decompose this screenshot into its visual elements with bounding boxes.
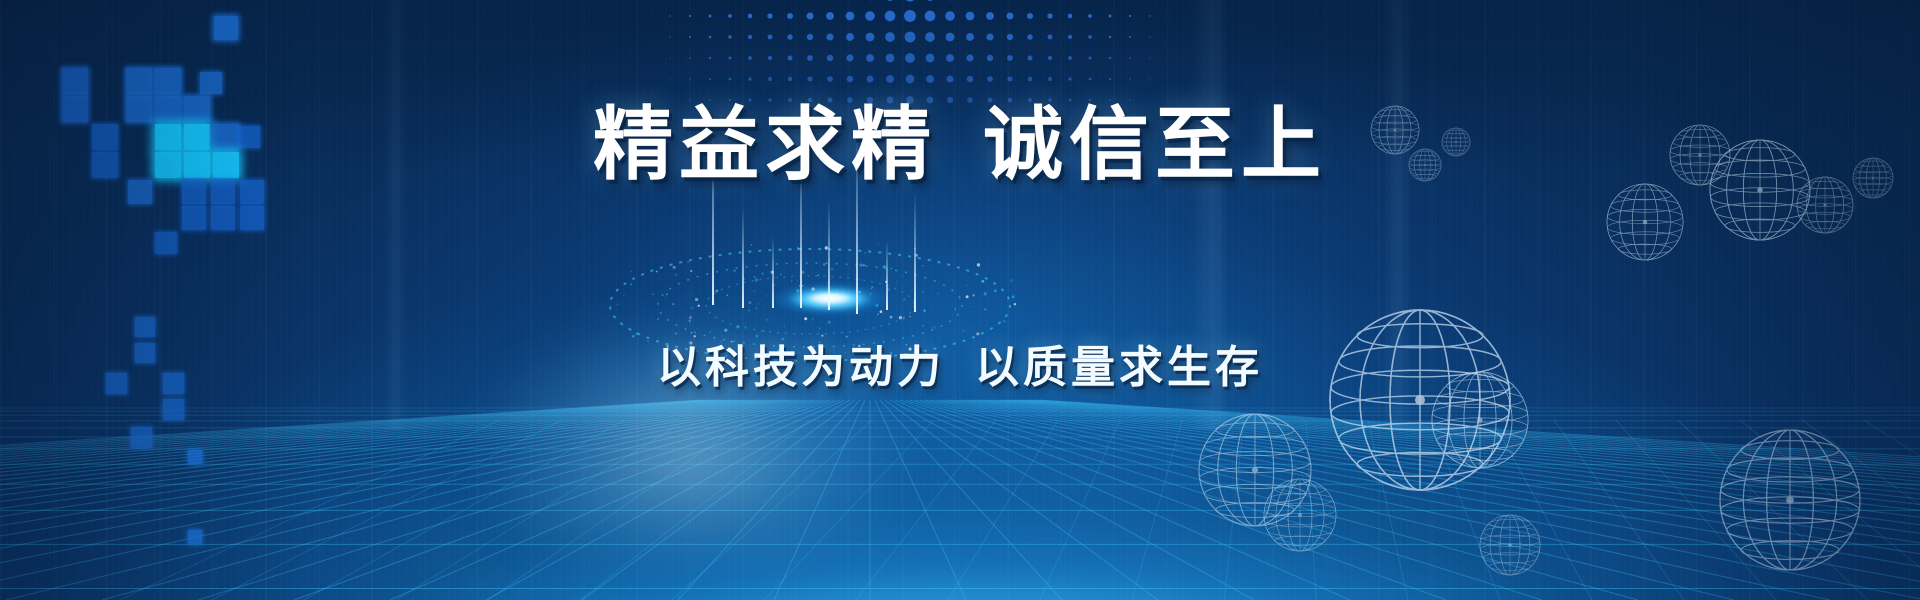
halftone-dot bbox=[967, 76, 973, 82]
halftone-dot bbox=[1027, 34, 1033, 40]
halftone-dot bbox=[728, 35, 731, 38]
particle-dot bbox=[675, 332, 677, 334]
mosaic-square bbox=[135, 317, 155, 337]
grid-lines bbox=[0, 400, 1920, 600]
particle-dot bbox=[657, 318, 659, 320]
halftone-dot bbox=[728, 14, 732, 18]
halftone-dot bbox=[748, 77, 751, 80]
particle-dot bbox=[755, 278, 758, 281]
halftone-dot bbox=[807, 13, 814, 20]
particle-dot bbox=[754, 290, 756, 292]
subheadline-container: 以科技为动力以质量求生存 bbox=[0, 346, 1920, 390]
particle-dot bbox=[724, 329, 727, 332]
halftone-dot bbox=[885, 32, 895, 42]
halftone-dot bbox=[669, 57, 670, 58]
particle-dot bbox=[903, 318, 905, 320]
halftone-dot bbox=[807, 76, 812, 81]
halftone-dot bbox=[787, 55, 792, 60]
particle-dot bbox=[666, 294, 667, 295]
halftone-dot bbox=[1088, 35, 1091, 38]
particle-dot bbox=[647, 340, 649, 342]
halftone-dot bbox=[689, 78, 691, 80]
particle-dot bbox=[673, 266, 676, 269]
halftone-dot bbox=[945, 11, 955, 21]
particle-dot bbox=[877, 244, 878, 245]
halftone-dot bbox=[787, 13, 793, 19]
halftone-dot bbox=[1068, 56, 1072, 60]
mosaic-square bbox=[155, 232, 177, 254]
particle-dot bbox=[994, 289, 997, 292]
halftone-dot bbox=[709, 15, 712, 18]
particle-dot bbox=[966, 285, 967, 286]
halftone-dot bbox=[1068, 35, 1072, 39]
halftone-dot bbox=[669, 15, 670, 16]
halftone-dot bbox=[886, 54, 895, 63]
particle-dot bbox=[744, 326, 746, 328]
halftone-dot bbox=[1088, 56, 1091, 59]
halftone-dot bbox=[946, 75, 953, 82]
particle-dot bbox=[984, 292, 987, 295]
particle-dot bbox=[972, 294, 974, 296]
halftone-dot bbox=[1048, 56, 1052, 60]
particle-dot bbox=[631, 271, 632, 272]
particle-dot bbox=[940, 337, 941, 338]
halftone-dot bbox=[807, 34, 813, 40]
halftone-dot bbox=[807, 55, 813, 61]
halftone-dot bbox=[904, 10, 916, 22]
halftone-dot bbox=[1068, 77, 1071, 80]
particle-dot bbox=[782, 338, 785, 341]
halftone-dot bbox=[1047, 13, 1052, 18]
particle-dot bbox=[672, 303, 674, 305]
halftone-dot bbox=[709, 78, 711, 80]
particle-dot bbox=[617, 304, 618, 305]
mosaic-square bbox=[163, 399, 184, 420]
particle-dot bbox=[766, 318, 769, 321]
particle-dot bbox=[665, 297, 666, 298]
halftone-dot bbox=[1007, 55, 1013, 61]
mosaic-square bbox=[182, 206, 206, 230]
particle-dot bbox=[697, 328, 699, 330]
halftone-dot bbox=[866, 33, 875, 42]
particle-dot bbox=[840, 262, 841, 263]
particle-dot bbox=[753, 276, 755, 278]
halftone-dot bbox=[926, 54, 935, 63]
halftone-dot bbox=[1007, 76, 1012, 81]
halftone-dot bbox=[689, 36, 691, 38]
particle-dot bbox=[819, 328, 821, 330]
halftone-dot bbox=[787, 34, 793, 40]
halftone-dot bbox=[768, 35, 773, 40]
particle-dot bbox=[797, 280, 798, 281]
mosaic-square bbox=[188, 530, 202, 544]
mosaic-square bbox=[211, 206, 235, 230]
particle-dot bbox=[890, 316, 893, 319]
particle-dot bbox=[710, 331, 712, 333]
mosaic-square bbox=[62, 68, 88, 94]
headline-part-1: 精益求精 bbox=[593, 97, 937, 191]
particle-dot bbox=[632, 335, 635, 338]
halftone-dot bbox=[866, 75, 873, 82]
particle-dot bbox=[962, 329, 964, 331]
particle-dot bbox=[698, 305, 700, 307]
halftone-dot bbox=[1048, 77, 1052, 81]
halftone-dot bbox=[1088, 14, 1092, 18]
halftone-dot bbox=[1149, 36, 1150, 37]
mosaic-square bbox=[131, 427, 152, 448]
vertical-streak-texture-wide bbox=[0, 0, 1920, 600]
wireframe-globe bbox=[1199, 414, 1311, 526]
subheadline-part-1: 以科技为动力 bbox=[657, 342, 945, 393]
particle-dot bbox=[911, 329, 912, 330]
particle-dot bbox=[923, 310, 926, 313]
halftone-dot bbox=[966, 54, 973, 61]
core-light-center bbox=[806, 292, 854, 304]
halftone-dot bbox=[947, 97, 953, 103]
headline-part-2: 诚信至上 bbox=[983, 97, 1327, 191]
hero-banner: 精益求精诚信至上 以科技为动力以质量求生存 bbox=[0, 0, 1920, 600]
halftone-dot bbox=[925, 11, 936, 22]
particle-dot bbox=[748, 301, 751, 304]
halftone-dot bbox=[669, 36, 670, 37]
halftone-dot bbox=[905, 32, 916, 43]
particle-dot bbox=[966, 295, 969, 298]
particle-dot bbox=[689, 316, 692, 319]
halftone-dot bbox=[1129, 78, 1131, 80]
particle-dot bbox=[984, 308, 986, 310]
wireframe-globes-decoration bbox=[0, 0, 1920, 600]
side-vignette bbox=[0, 0, 1920, 600]
mosaic-square bbox=[200, 72, 222, 94]
particle-dot bbox=[940, 298, 941, 299]
particle-dot bbox=[812, 318, 814, 320]
particle-dot bbox=[846, 336, 848, 338]
particle-dot bbox=[755, 307, 757, 309]
particle-dot bbox=[757, 303, 759, 305]
halftone-dot bbox=[946, 54, 954, 62]
particle-dot bbox=[624, 295, 625, 296]
vertical-streak-texture bbox=[0, 0, 1920, 600]
subheadline-part-2: 以质量求生存 bbox=[975, 342, 1263, 393]
halftone-dot bbox=[866, 54, 874, 62]
particle-dot bbox=[734, 270, 736, 272]
headline-container: 精益求精诚信至上 bbox=[0, 104, 1920, 184]
particle-dot bbox=[974, 340, 975, 341]
particle-dot bbox=[689, 320, 691, 322]
particle-dot bbox=[762, 299, 763, 300]
particle-dot bbox=[694, 335, 696, 337]
mosaic-square bbox=[126, 68, 152, 94]
wireframe-globe bbox=[1720, 430, 1860, 570]
particle-dot bbox=[689, 321, 691, 323]
particle-dot bbox=[909, 316, 910, 317]
halftone-dot bbox=[1027, 55, 1032, 60]
particle-dot bbox=[763, 330, 764, 331]
halftone-dot bbox=[1129, 15, 1131, 17]
halftone-dot bbox=[987, 76, 993, 82]
halftone-dot bbox=[788, 77, 793, 82]
halftone-dot bbox=[1007, 13, 1014, 20]
halftone-dot bbox=[748, 14, 753, 19]
particle-dot bbox=[903, 298, 906, 301]
particle-dot bbox=[955, 309, 956, 310]
halftone-dot bbox=[1007, 34, 1013, 40]
halftone-dot bbox=[1109, 57, 1111, 59]
particle-dot bbox=[899, 316, 902, 319]
halftone-dot bbox=[689, 15, 691, 17]
headline: 精益求精诚信至上 bbox=[593, 104, 1327, 184]
perspective-grid bbox=[0, 360, 1920, 600]
particle-dot bbox=[656, 271, 658, 273]
particle-dot bbox=[897, 281, 898, 282]
halftone-dot bbox=[924, 0, 936, 1]
halftone-dot bbox=[650, 16, 651, 17]
halftone-dot bbox=[729, 78, 732, 81]
particle-dot bbox=[1010, 279, 1013, 282]
particle-dot bbox=[675, 273, 678, 276]
particle-dot bbox=[831, 268, 834, 271]
particle-dot bbox=[695, 298, 698, 301]
particle-dot bbox=[922, 324, 925, 327]
particle-dot bbox=[1003, 320, 1005, 322]
halftone-dot bbox=[669, 78, 670, 79]
halftone-dot bbox=[886, 75, 894, 83]
particle-dot bbox=[691, 332, 692, 333]
halftone-dot bbox=[826, 12, 834, 20]
halftone-dot bbox=[709, 57, 711, 59]
particle-dot bbox=[933, 326, 936, 329]
particle-dot bbox=[642, 311, 643, 312]
particle-dot bbox=[727, 294, 728, 295]
particle-dot bbox=[784, 326, 785, 327]
halftone-dot bbox=[826, 33, 833, 40]
particle-dot bbox=[818, 327, 819, 328]
halftone-dot bbox=[748, 56, 752, 60]
particle-dot bbox=[863, 264, 865, 266]
halftone-dot bbox=[906, 75, 915, 84]
halftone-dot bbox=[1129, 36, 1131, 38]
wireframe-globe bbox=[1480, 515, 1540, 575]
light-beam bbox=[914, 192, 916, 312]
particle-dot bbox=[810, 322, 811, 323]
particle-dot bbox=[821, 335, 823, 337]
wireframe-globe bbox=[1797, 177, 1853, 233]
halftone-dot bbox=[1149, 57, 1150, 58]
particle-dot bbox=[730, 332, 731, 333]
halftone-dot bbox=[728, 56, 731, 59]
halftone-dot bbox=[946, 33, 955, 42]
particle-dot bbox=[823, 263, 826, 266]
particle-dot bbox=[692, 292, 693, 293]
particle-dot bbox=[969, 306, 970, 307]
halftone-dot bbox=[1149, 78, 1150, 79]
halftone-dot bbox=[905, 53, 915, 63]
particle-dot bbox=[922, 291, 923, 292]
halftone-dot bbox=[1170, 16, 1171, 17]
mosaic-square bbox=[214, 16, 238, 40]
halftone-dot bbox=[986, 12, 994, 20]
light-beam bbox=[828, 200, 830, 310]
particle-dot bbox=[687, 261, 689, 263]
particle-dot bbox=[891, 268, 892, 269]
particle-dot bbox=[691, 306, 694, 309]
halftone-dot bbox=[846, 54, 853, 61]
particle-dot bbox=[780, 273, 782, 275]
halftone-dot bbox=[1048, 35, 1053, 40]
particle-dot bbox=[859, 279, 860, 280]
particle-dot bbox=[690, 270, 692, 272]
halftone-dot bbox=[1028, 77, 1033, 82]
halftone-dot bbox=[768, 77, 772, 81]
halftone-dot bbox=[987, 55, 993, 61]
halftone-dot bbox=[926, 75, 934, 83]
particle-dot bbox=[630, 283, 632, 285]
particle-dot bbox=[902, 275, 904, 277]
wireframe-globe bbox=[1607, 184, 1683, 260]
halftone-dot bbox=[748, 35, 752, 39]
halftone-dot bbox=[846, 33, 854, 41]
particle-dot bbox=[751, 244, 752, 245]
particle-dot bbox=[660, 280, 661, 281]
particle-dot bbox=[828, 321, 831, 324]
particle-dot bbox=[715, 289, 718, 292]
particle-dot bbox=[804, 317, 807, 320]
halftone-dot bbox=[1109, 15, 1112, 18]
particle-dot bbox=[724, 314, 725, 315]
halftone-dot bbox=[1109, 78, 1111, 80]
particle-dot bbox=[736, 325, 739, 328]
pixel-mosaic-decoration bbox=[0, 0, 320, 500]
light-beam bbox=[772, 236, 774, 308]
particle-dot bbox=[981, 280, 984, 283]
halftone-dot bbox=[884, 0, 896, 1]
halftone-dot bbox=[925, 32, 935, 42]
particle-dot bbox=[748, 310, 750, 312]
particle-dot bbox=[937, 293, 939, 295]
halftone-dot bbox=[709, 36, 712, 39]
particle-dot bbox=[653, 294, 654, 295]
halftone-dot bbox=[967, 97, 973, 103]
wireframe-globe bbox=[1264, 479, 1336, 551]
mosaic-square bbox=[155, 68, 181, 94]
halftone-dot bbox=[827, 76, 833, 82]
halftone-dot bbox=[865, 11, 875, 21]
particle-dot bbox=[976, 332, 979, 335]
halftone-dot bbox=[827, 55, 833, 61]
wireframe-globe bbox=[1330, 310, 1510, 490]
halftone-dot bbox=[846, 12, 855, 21]
particle-dot bbox=[865, 252, 866, 253]
particle-dot bbox=[748, 312, 749, 313]
light-beam bbox=[742, 208, 744, 308]
particle-dot bbox=[977, 263, 980, 266]
particle-dot bbox=[1014, 303, 1016, 305]
particle-dot bbox=[860, 264, 863, 267]
subheadline: 以科技为动力以质量求生存 bbox=[657, 346, 1263, 390]
halftone-dot bbox=[986, 33, 993, 40]
particle-dot bbox=[1012, 295, 1015, 298]
halftone-dot bbox=[904, 0, 917, 1]
halftone-dot bbox=[1149, 15, 1150, 16]
particle-dot bbox=[923, 309, 925, 311]
halftone-dot bbox=[1089, 78, 1092, 81]
halftone-dot bbox=[1109, 36, 1112, 39]
halftone-dot bbox=[966, 12, 975, 21]
mosaic-square bbox=[188, 450, 202, 464]
halftone-dot bbox=[847, 76, 853, 82]
halftone-dot bbox=[885, 11, 896, 22]
particle-dot bbox=[636, 332, 639, 335]
halftone-dot bbox=[768, 56, 772, 60]
halftone-dot bbox=[966, 33, 974, 41]
particle-dot bbox=[762, 272, 764, 274]
halftone-dot bbox=[1129, 57, 1131, 59]
halftone-dot bbox=[1068, 14, 1073, 19]
mosaic-square bbox=[240, 206, 264, 230]
halftone-dot bbox=[689, 57, 691, 59]
light-beam bbox=[886, 240, 888, 310]
halftone-dot bbox=[767, 13, 772, 18]
particle-dot bbox=[766, 295, 767, 296]
particle-dot bbox=[817, 274, 819, 276]
particle-dot bbox=[922, 265, 924, 267]
halftone-dot bbox=[1027, 13, 1033, 19]
particle-dot bbox=[801, 271, 804, 274]
particle-dot bbox=[756, 335, 759, 338]
